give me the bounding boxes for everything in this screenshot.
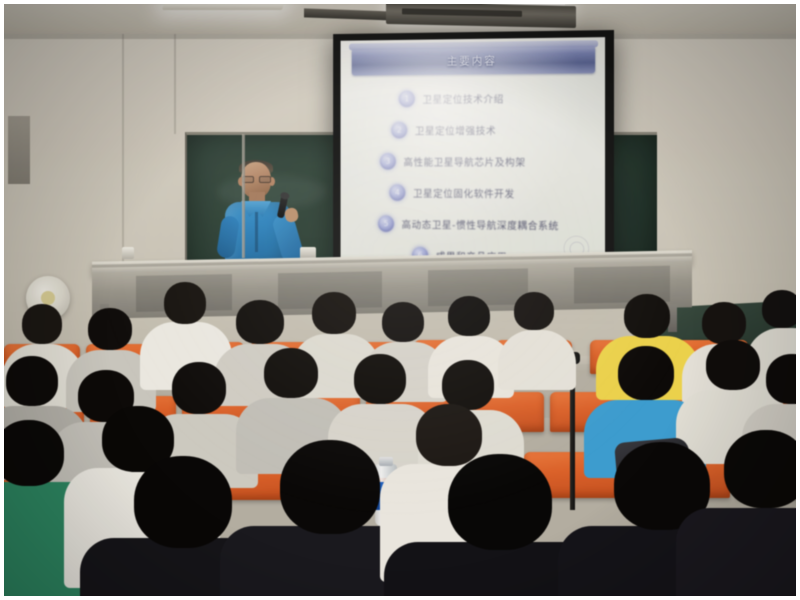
slide-item-text: 卫星定位技术介绍 xyxy=(422,91,503,106)
slide-bullet-4: 4 卫星定位固化软件开发 xyxy=(389,184,514,201)
slide-item-text: 卫星定位固化软件开发 xyxy=(413,185,515,200)
bullet-number-icon: 4 xyxy=(389,184,405,201)
glasses-icon xyxy=(242,176,270,181)
slide-title-bar: 主要内容 xyxy=(352,45,595,75)
screen-housing xyxy=(386,4,576,28)
bullet-number-icon: 3 xyxy=(380,153,396,170)
presenter-placket xyxy=(255,212,258,252)
slide-bullet-5: 5 高动态卫星-惯性导航深度耦合系统 xyxy=(378,215,559,233)
slide-surface: 主要内容 1 卫星定位技术介绍 2 卫星定位增强技术 3 高性能卫星导航芯片及构… xyxy=(341,37,605,270)
slide-bullet-2: 2 卫星定位增强技术 xyxy=(391,121,496,138)
bullet-number-icon: 5 xyxy=(378,215,394,232)
scene-container: 主要内容 1 卫星定位技术介绍 2 卫星定位增强技术 3 高性能卫星导航芯片及构… xyxy=(4,4,796,596)
wall-notice xyxy=(8,116,30,184)
slide-item-text: 高性能卫星导航芯片及构架 xyxy=(403,154,525,169)
desk-item-a xyxy=(122,247,134,259)
wall-seam-mid xyxy=(174,34,176,134)
ceiling-light-secondary-icon xyxy=(162,4,286,10)
slide-item-text: 卫星定位增强技术 xyxy=(415,122,496,137)
slide-bullet-1: 1 卫星定位技术介绍 xyxy=(399,90,504,107)
slide-bullet-3: 3 高性能卫星导航芯片及构架 xyxy=(380,153,526,170)
slide-title: 主要内容 xyxy=(447,52,497,68)
projection-screen: 主要内容 1 卫星定位技术介绍 2 卫星定位增强技术 3 高性能卫星导航芯片及构… xyxy=(333,30,614,280)
bullet-number-icon: 2 xyxy=(391,122,407,139)
stand-pole xyxy=(242,134,245,258)
lecture-hall-photograph: 主要内容 1 卫星定位技术介绍 2 卫星定位增强技术 3 高性能卫星导航芯片及构… xyxy=(0,0,800,600)
bullet-number-icon: 1 xyxy=(399,91,415,108)
slide-item-text: 高动态卫星-惯性导航深度耦合系统 xyxy=(402,216,559,232)
